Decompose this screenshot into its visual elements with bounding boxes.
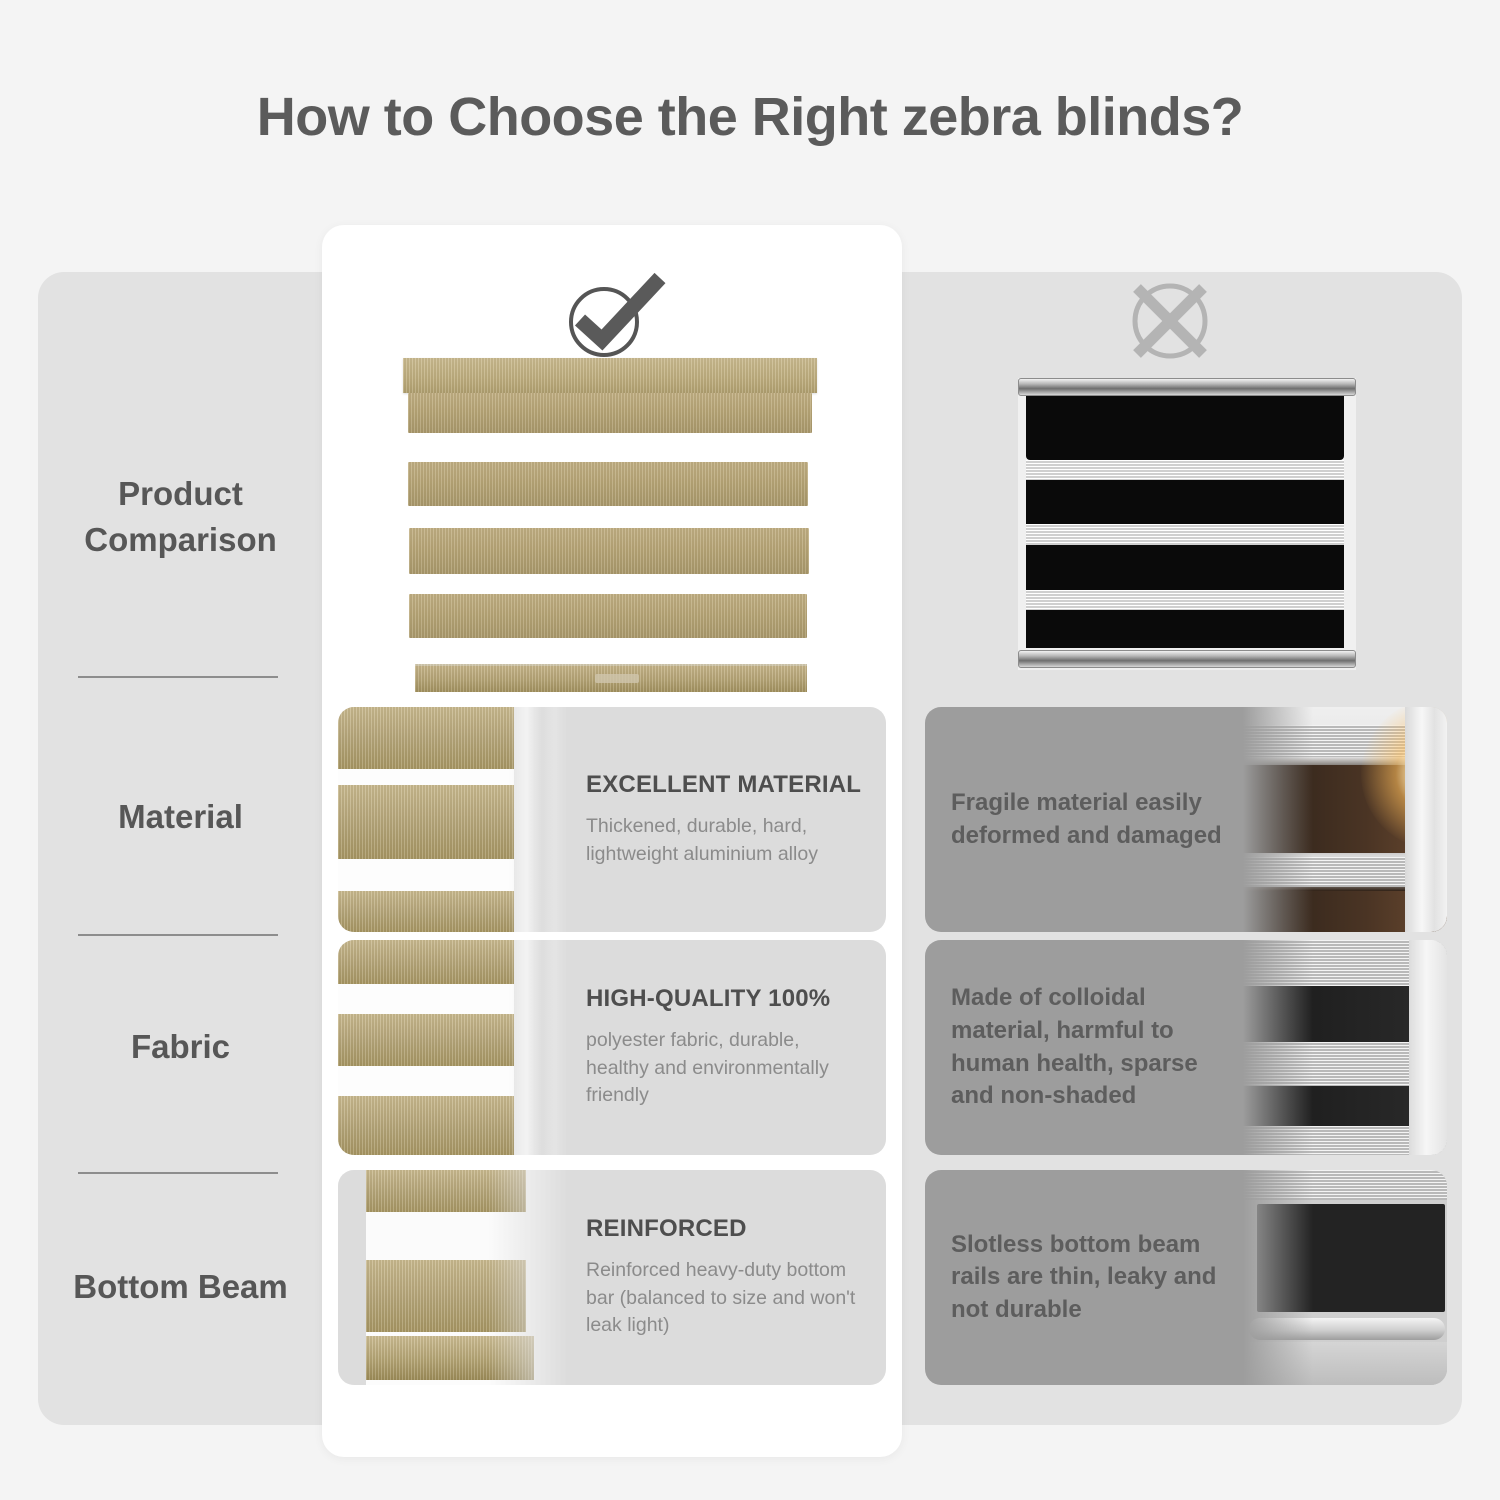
category-sidebar: Product Comparison Material Fabric Botto… [38, 272, 323, 1425]
tan-zebra-blind-image [403, 358, 817, 703]
blind-headrail [1018, 378, 1356, 396]
feature-copy-material-good: EXCELLENT MATERIAL Thickened, durable, h… [566, 707, 886, 932]
blind-slat [408, 462, 808, 506]
check-circle-icon [556, 272, 666, 360]
feature-copy-fabric-good: HIGH-QUALITY 100% polyester fabric, dura… [566, 940, 886, 1155]
feature-body: Reinforced heavy-duty bottom bar (balanc… [586, 1257, 864, 1340]
feature-card-fabric-bad: Made of colloidal material, harmful to h… [925, 940, 1447, 1155]
feature-card-material-good: EXCELLENT MATERIAL Thickened, durable, h… [338, 707, 886, 932]
blind-black-band [1026, 396, 1344, 460]
feature-copy-bottom-beam-bad: Slotless bottom beam rails are thin, lea… [925, 1170, 1243, 1385]
feature-thumb-material-bad [1243, 707, 1447, 932]
sidebar-row-product-comparison: Product Comparison [38, 447, 323, 587]
feature-copy-bottom-beam-good: REINFORCED Reinforced heavy-duty bottom … [566, 1170, 886, 1385]
sidebar-row-material: Material [38, 772, 323, 862]
feature-body: polyester fabric, durable, healthy and e… [586, 1027, 864, 1110]
feature-text: Fragile material easily deformed and dam… [951, 787, 1243, 852]
feature-thumb-bottom-beam-good [338, 1170, 566, 1385]
feature-body: Thickened, durable, hard, lightweight al… [586, 813, 864, 868]
blind-headrail [403, 358, 817, 393]
feature-thumb-fabric-bad [1243, 940, 1447, 1155]
feature-card-fabric-good: HIGH-QUALITY 100% polyester fabric, dura… [338, 940, 886, 1155]
cross-circle-icon [1118, 278, 1222, 364]
bottom-bar-tab [595, 674, 639, 683]
black-zebra-blind-image [1018, 378, 1356, 670]
feature-text: Made of colloidal material, harmful to h… [951, 982, 1243, 1113]
feature-thumb-bottom-beam-bad [1243, 1170, 1447, 1385]
sidebar-divider-3 [78, 1172, 278, 1174]
sidebar-row-fabric: Fabric [38, 1002, 323, 1092]
page-title: How to Choose the Right zebra blinds? [0, 86, 1500, 148]
feature-card-bottom-beam-bad: Slotless bottom beam rails are thin, lea… [925, 1170, 1447, 1385]
sidebar-label-bottom-beam: Bottom Beam [73, 1264, 288, 1310]
feature-text: Slotless bottom beam rails are thin, lea… [951, 1229, 1243, 1327]
blind-slat [409, 528, 809, 574]
blind-black-band [1026, 610, 1344, 648]
feature-title: EXCELLENT MATERIAL [586, 771, 864, 799]
sidebar-divider-1 [78, 676, 278, 678]
blind-black-band [1026, 480, 1344, 524]
sidebar-row-bottom-beam: Bottom Beam [38, 1227, 323, 1347]
feature-copy-fabric-bad: Made of colloidal material, harmful to h… [925, 940, 1243, 1155]
blind-slat [409, 594, 807, 638]
blind-slat [408, 393, 812, 433]
blind-bottom-rail [1018, 650, 1356, 668]
feature-title: HIGH-QUALITY 100% [586, 985, 864, 1013]
sidebar-divider-2 [78, 934, 278, 936]
sidebar-label-product-comparison: Product Comparison [38, 471, 323, 562]
sidebar-label-material: Material [118, 794, 243, 840]
blind-mesh-band [1026, 524, 1344, 545]
blind-mesh-band [1026, 590, 1344, 610]
feature-title: REINFORCED [586, 1215, 864, 1243]
blind-mesh-band [1026, 460, 1344, 480]
feature-card-bottom-beam-good: REINFORCED Reinforced heavy-duty bottom … [338, 1170, 886, 1385]
feature-card-material-bad: Fragile material easily deformed and dam… [925, 707, 1447, 932]
feature-thumb-fabric-good [338, 940, 566, 1155]
blind-black-band [1026, 545, 1344, 590]
sidebar-label-fabric: Fabric [131, 1024, 230, 1070]
feature-copy-material-bad: Fragile material easily deformed and dam… [925, 707, 1243, 932]
blind-bottom-bar [415, 664, 807, 692]
feature-thumb-material-good [338, 707, 566, 932]
